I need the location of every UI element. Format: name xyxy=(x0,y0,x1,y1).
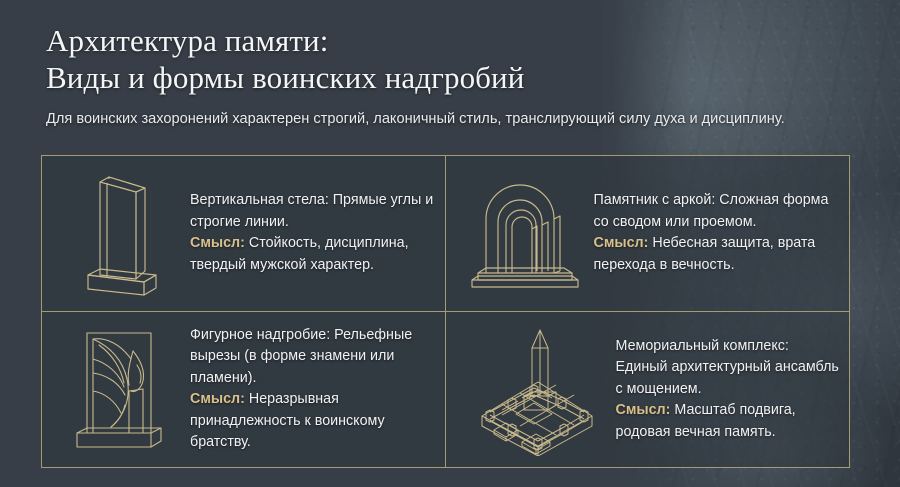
card-arch-monument[interactable]: Памятник с аркой: Сложная форма со сводо… xyxy=(446,156,850,312)
card-memorial-complex[interactable]: Мемориальный комплекс: Единый архитектур… xyxy=(446,312,850,468)
meaning-label: Смысл: xyxy=(190,235,245,251)
meaning-label: Смысл: xyxy=(594,235,649,251)
card-text: Мемориальный комплекс: Единый архитектур… xyxy=(610,336,840,444)
card-description: Памятник с аркой: Сложная форма со сводо… xyxy=(594,192,829,230)
meaning-label: Смысл: xyxy=(190,391,245,407)
card-description: Фигурное надгробие: Рельефные вырезы (в … xyxy=(190,327,412,386)
card-figured-headstone[interactable]: Фигурное надгробие: Рельефные вырезы (в … xyxy=(42,312,446,468)
memorial-complex-obelisk-icon xyxy=(460,319,610,459)
card-text: Вертикальная стела: Прямые углы и строги… xyxy=(184,190,435,276)
card-description: Вертикальная стела: Прямые углы и строги… xyxy=(190,192,433,230)
page-title-line-1: Архитектура памяти: xyxy=(46,22,846,59)
page-subtitle: Для воинских захоронений характерен стро… xyxy=(46,108,806,130)
figured-banner-flame-icon xyxy=(56,319,184,459)
card-text: Фигурное надгробие: Рельефные вырезы (в … xyxy=(184,325,435,454)
vertical-stela-icon xyxy=(56,163,184,303)
meaning-label: Смысл: xyxy=(616,402,671,418)
slide-header: Архитектура памяти: Виды и формы воински… xyxy=(46,22,846,130)
card-description: Мемориальный комплекс: Единый архитектур… xyxy=(616,338,839,397)
card-text: Памятник с аркой: Сложная форма со сводо… xyxy=(588,190,840,276)
monument-types-grid: Вертикальная стела: Прямые углы и строги… xyxy=(41,155,850,468)
page-title-line-2: Виды и формы воинских надгробий xyxy=(46,59,846,96)
card-vertical-stela[interactable]: Вертикальная стела: Прямые углы и строги… xyxy=(42,156,446,312)
slide-canvas: Архитектура памяти: Виды и формы воински… xyxy=(0,0,900,487)
arch-monument-icon xyxy=(460,163,588,303)
